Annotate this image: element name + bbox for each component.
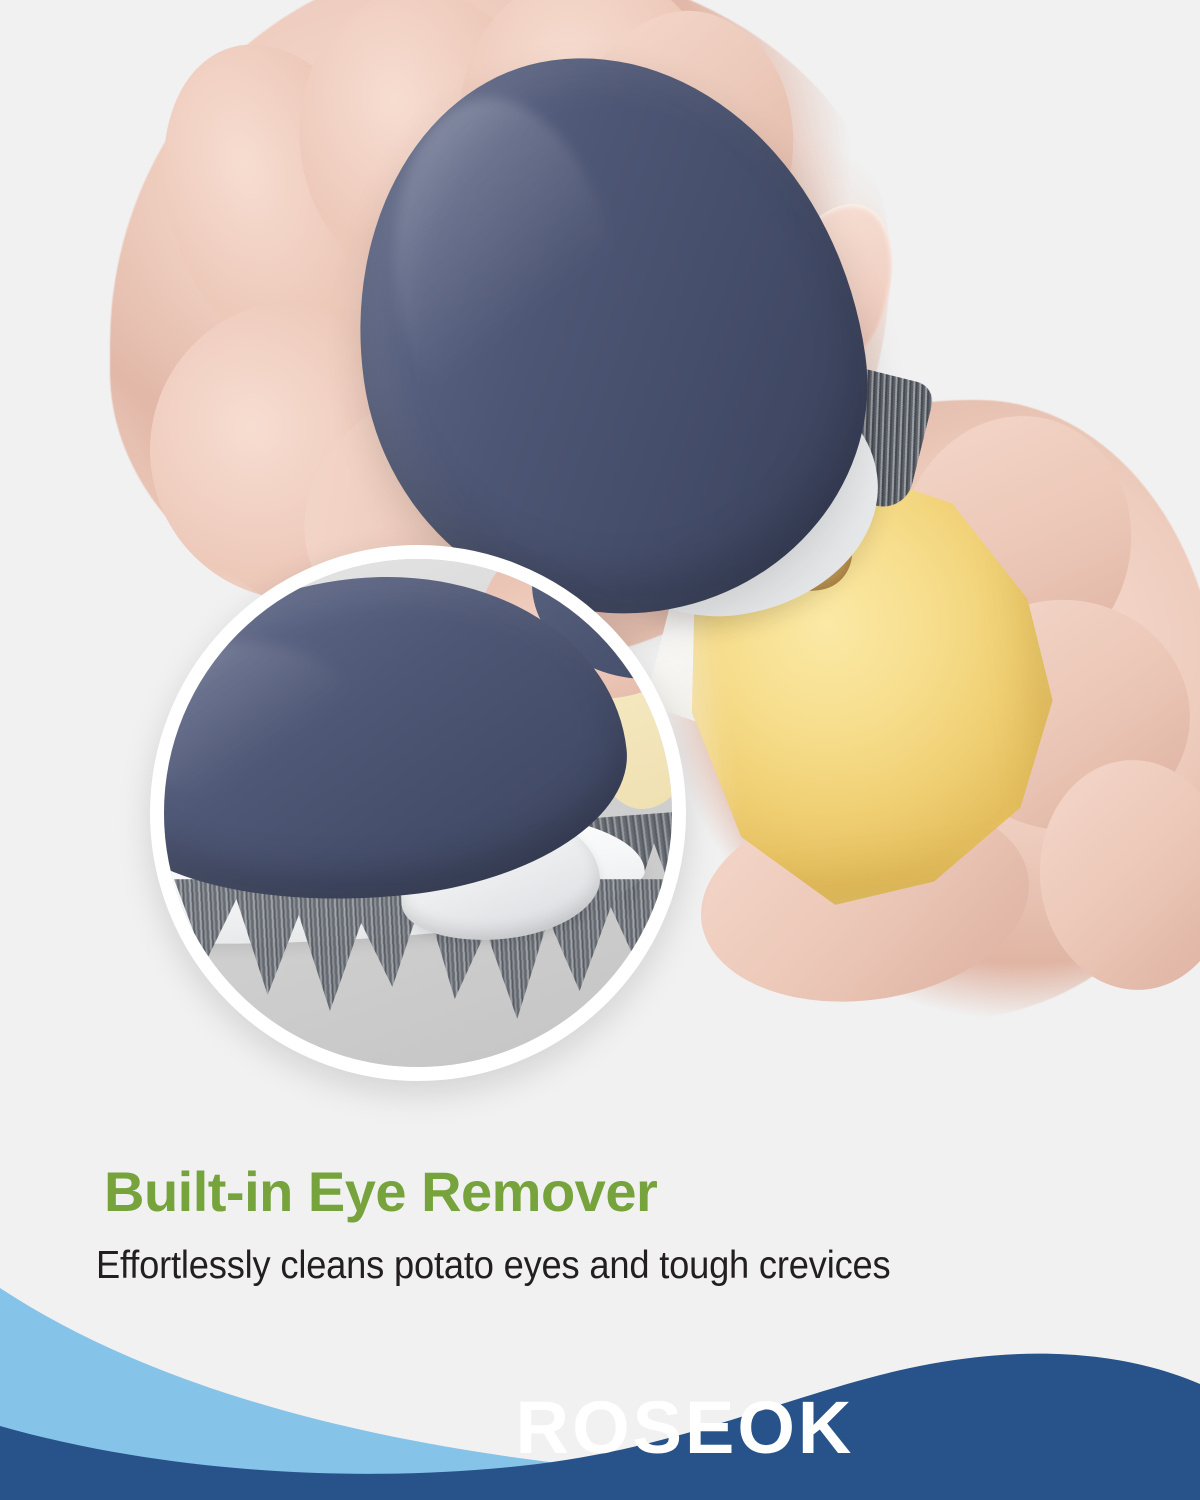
brand-logo-text: ROSEOK bbox=[0, 1385, 1200, 1470]
product-photo bbox=[0, 0, 1200, 1170]
caption-block: Built-in Eye Remover Effortlessly cleans… bbox=[0, 1160, 1200, 1288]
inset-handle-highlight bbox=[150, 630, 358, 804]
headline: Built-in Eye Remover bbox=[104, 1160, 1200, 1224]
subheadline: Effortlessly cleans potato eyes and toug… bbox=[96, 1244, 1123, 1288]
detail-inset-circle bbox=[150, 545, 686, 1081]
handle-highlight bbox=[371, 84, 635, 441]
product-infographic: Built-in Eye Remover Effortlessly cleans… bbox=[0, 0, 1200, 1500]
